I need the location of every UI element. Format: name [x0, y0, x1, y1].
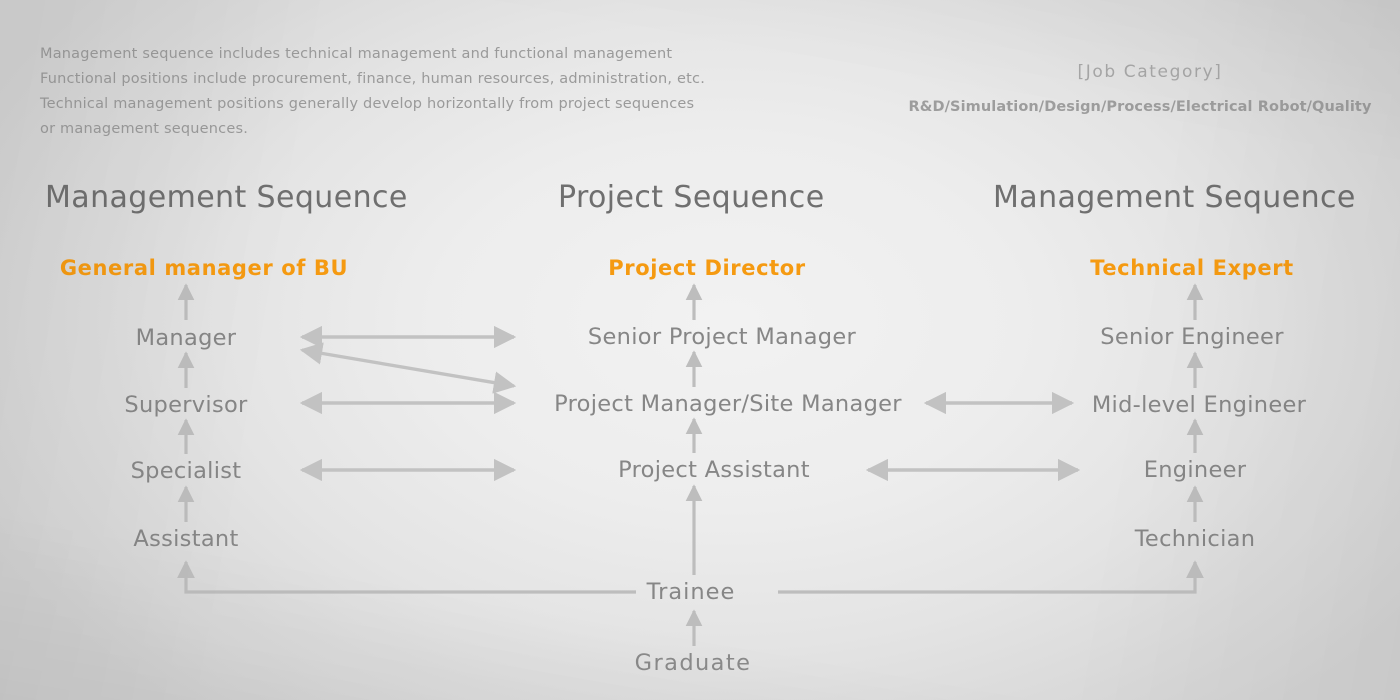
node-assistant[interactable]: Assistant [133, 526, 238, 552]
node-project-director[interactable]: Project Director [608, 256, 806, 280]
explanatory-note: Management sequence includes technical m… [40, 42, 860, 142]
connector-trainee-to-technician [778, 562, 1195, 592]
node-technical-expert[interactable]: Technical Expert [1090, 256, 1294, 280]
node-project-assistant[interactable]: Project Assistant [618, 457, 810, 483]
column-heading-management-left: Management Sequence [45, 180, 408, 215]
node-midlevel-engineer[interactable]: Mid-level Engineer [1092, 392, 1306, 418]
node-technician[interactable]: Technician [1135, 526, 1256, 552]
node-manager[interactable]: Manager [136, 325, 237, 351]
connector-trainee-to-assistant [186, 562, 636, 592]
diagram-canvas: Management sequence includes technical m… [0, 0, 1400, 700]
node-graduate[interactable]: Graduate [635, 650, 752, 676]
node-trainee[interactable]: Trainee [647, 579, 736, 605]
node-engineer[interactable]: Engineer [1144, 457, 1247, 483]
node-senior-engineer[interactable]: Senior Engineer [1100, 324, 1284, 350]
column-heading-project: Project Sequence [558, 180, 825, 215]
node-project-manager-site-manager[interactable]: Project Manager/Site Manager [554, 391, 902, 417]
arrow-manager-project-manager-diagonal [302, 350, 514, 386]
node-senior-project-manager[interactable]: Senior Project Manager [588, 324, 856, 350]
node-general-manager-of-bu[interactable]: General manager of BU [60, 256, 348, 280]
job-category-title: [Job Category] [900, 62, 1400, 82]
column-heading-management-right: Management Sequence [993, 180, 1356, 215]
node-supervisor[interactable]: Supervisor [124, 392, 247, 418]
job-category-items: R&D/Simulation/Design/Process/Electrical… [880, 99, 1400, 115]
node-specialist[interactable]: Specialist [131, 458, 242, 484]
